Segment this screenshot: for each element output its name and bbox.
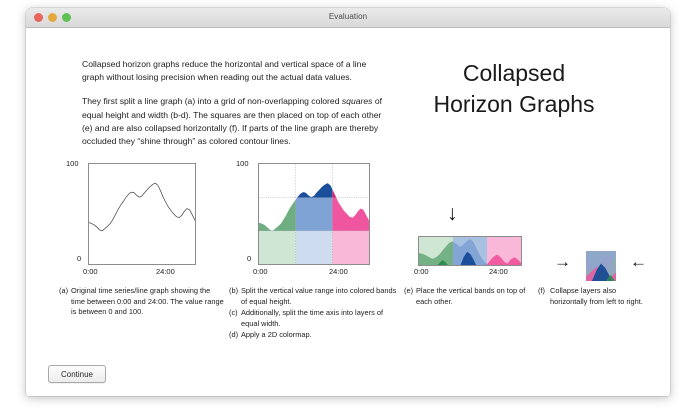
figure-b-banded-area-chart (259, 164, 369, 264)
caption-d-tag: (d) (229, 330, 241, 341)
intro-p2-emphasis: squares (342, 96, 373, 106)
figure-a-ytick-bottom: 0 (77, 254, 81, 263)
arrow-left-icon: ← (630, 253, 647, 270)
figure-a: 100 0 0:00 24:00 (56, 163, 216, 278)
caption-f-text: Collapse layers also horizontally from l… (550, 286, 648, 307)
caption-e: (e) Place the vertical bands on top of e… (404, 286, 529, 308)
caption-b-tag: (b) (229, 286, 241, 307)
screen: Evaluation Collapsed horizon graphs redu… (0, 0, 696, 417)
caption-a-text: Original time series/line graph showing … (71, 286, 224, 318)
figure-e-plot (418, 236, 522, 266)
figure-a-plot (88, 163, 196, 265)
figure-e-xtick-left: 0:00 (414, 267, 429, 276)
caption-b-text: Split the vertical value range into colo… (241, 286, 401, 307)
figure-b-ytick-bottom: 0 (247, 254, 251, 263)
caption-f: (f) Collapse layers also horizontally fr… (538, 286, 648, 308)
figure-a-line-chart (89, 164, 195, 264)
figure-b-xtick-right: 24:00 (329, 267, 348, 276)
caption-e-text: Place the vertical bands on top of each … (416, 286, 529, 307)
figure-bd: 100 0 0:00 24:00 (226, 163, 396, 278)
caption-bcd: (b) Split the vertical value range into … (229, 286, 401, 342)
caption-f-row: (f) Collapse layers also horizontally fr… (538, 286, 648, 307)
caption-e-tag: (e) (404, 286, 416, 307)
window-titlebar: Evaluation (26, 8, 670, 28)
caption-a: (a) Original time series/line graph show… (59, 286, 224, 319)
app-window: Evaluation Collapsed horizon graphs redu… (26, 8, 670, 396)
figure-e-xtick-right: 24:00 (489, 267, 508, 276)
window-title: Evaluation (26, 12, 670, 21)
arrow-down-icon: ↓ (447, 203, 458, 224)
window-content: Collapsed horizon graphs reduce the hori… (26, 28, 670, 396)
arrow-right-icon: → (554, 253, 571, 270)
page-title-line-2: Horizon Graphs (384, 89, 644, 120)
page-title: Collapsed Horizon Graphs (384, 58, 644, 120)
intro-p2-part1: They first split a line graph (a) into a… (82, 96, 342, 106)
continue-button[interactable]: Continue (48, 365, 106, 383)
caption-c-tag: (c) (229, 308, 241, 329)
figure-b-ytick-top: 100 (236, 159, 249, 168)
caption-f-tag: (f) (538, 286, 550, 307)
figure-b-plot (258, 163, 370, 265)
figure-e-stacked-bands-chart (419, 237, 521, 265)
figure-f: → ← (542, 233, 662, 293)
intro-text: Collapsed horizon graphs reduce the hori… (82, 58, 382, 148)
figure-a-ytick-top: 100 (66, 159, 79, 168)
caption-d-row: (d) Apply a 2D colormap. (229, 330, 401, 341)
intro-paragraph-2: They first split a line graph (a) into a… (82, 95, 382, 148)
figure-a-xtick-left: 0:00 (83, 267, 98, 276)
figure-e: ↓ (398, 203, 538, 278)
caption-e-row: (e) Place the vertical bands on top of e… (404, 286, 529, 307)
page-title-line-1: Collapsed (384, 58, 644, 89)
caption-a-row: (a) Original time series/line graph show… (59, 286, 224, 318)
figure-a-xtick-right: 24:00 (156, 267, 175, 276)
figure-f-collapsed-square-chart (586, 251, 616, 281)
intro-paragraph-1: Collapsed horizon graphs reduce the hori… (82, 58, 382, 84)
caption-a-tag: (a) (59, 286, 71, 318)
caption-b-row: (b) Split the vertical value range into … (229, 286, 401, 307)
caption-c-row: (c) Additionally, split the time axis in… (229, 308, 401, 329)
figure-b-xtick-left: 0:00 (253, 267, 268, 276)
caption-d-text: Apply a 2D colormap. (241, 330, 401, 341)
figure-f-plot (586, 251, 616, 281)
caption-c-text: Additionally, split the time axis into l… (241, 308, 401, 329)
